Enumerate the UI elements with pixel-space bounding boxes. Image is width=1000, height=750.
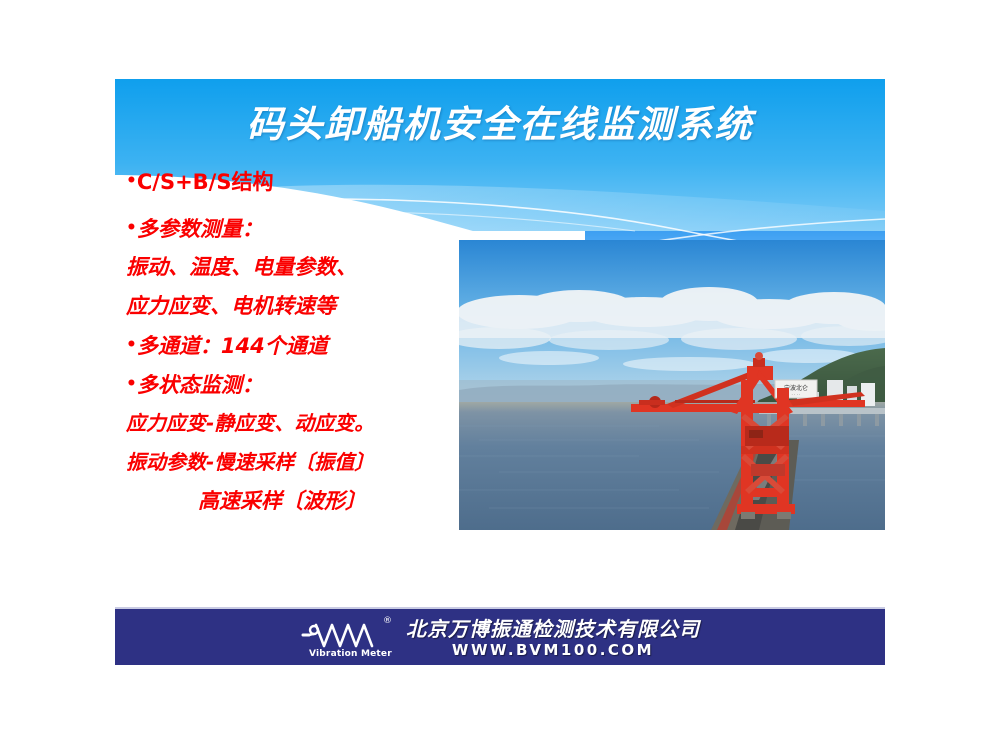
list-item: •C/S+B/S结构 (126, 166, 456, 197)
wave-logo-icon (300, 618, 396, 652)
list-item-label: 多通道：144个通道 (137, 334, 328, 358)
registered-mark: ® (383, 617, 392, 626)
bullet-marker: • (126, 374, 137, 394)
page-title: 码头卸船机安全在线监测系统 (115, 103, 885, 147)
list-item: •多参数测量： (126, 209, 456, 248)
bullet-marker: • (126, 171, 137, 191)
photo-illustration: 宁波北仑 · · · · (459, 240, 885, 530)
company-name: 北京万博振通检测技术有限公司 (406, 619, 700, 639)
list-item: 振动参数-慢速采样〔振值〕 (126, 443, 456, 482)
footer-bar: ® Vibration Meter 北京万博振通检测技术有限公司 WWW.BVM… (115, 607, 885, 665)
list-item-label: 应力应变-静应变、动应变。 (126, 411, 374, 435)
list-item-label: 应力应变、电机转速等 (126, 294, 336, 318)
list-item-label: 多状态监测： (137, 373, 263, 397)
list-item: 高速采样〔波形〕 (126, 482, 456, 521)
list-item: 应力应变-静应变、动应变。 (126, 404, 456, 443)
list-item-label: C/S+B/S结构 (137, 170, 274, 194)
list-item: 振动、温度、电量参数、 (126, 248, 456, 287)
bullet-list: •C/S+B/S结构 •多参数测量： 振动、温度、电量参数、 应力应变、电机转速… (126, 166, 456, 521)
bullet-marker: • (126, 335, 137, 355)
list-item: •多通道：144个通道 (126, 326, 456, 365)
company-url: WWW.BVM100.COM (452, 643, 654, 658)
logo-caption: Vibration Meter (309, 649, 392, 659)
bullet-marker: • (126, 218, 137, 238)
list-item: •多状态监测： (126, 365, 456, 404)
slide-canvas: 码头卸船机安全在线监测系统 •C/S+B/S结构 •多参数测量： 振动、温度、电… (0, 0, 1000, 750)
list-item-label: 多参数测量： (137, 217, 263, 241)
list-item-label: 振动参数-慢速采样〔振值〕 (126, 450, 374, 474)
svg-text:· · · ·: · · · · (792, 392, 801, 397)
footer-text-block: 北京万博振通检测技术有限公司 WWW.BVM100.COM (406, 619, 700, 658)
ship-unloader-photo: 宁波北仑 · · · · (459, 240, 885, 530)
list-item-label: 振动、温度、电量参数、 (126, 255, 357, 279)
list-item: 应力应变、电机转速等 (126, 287, 456, 326)
list-item-label: 高速采样〔波形〕 (198, 489, 366, 513)
vibration-meter-logo: ® Vibration Meter (300, 618, 396, 658)
